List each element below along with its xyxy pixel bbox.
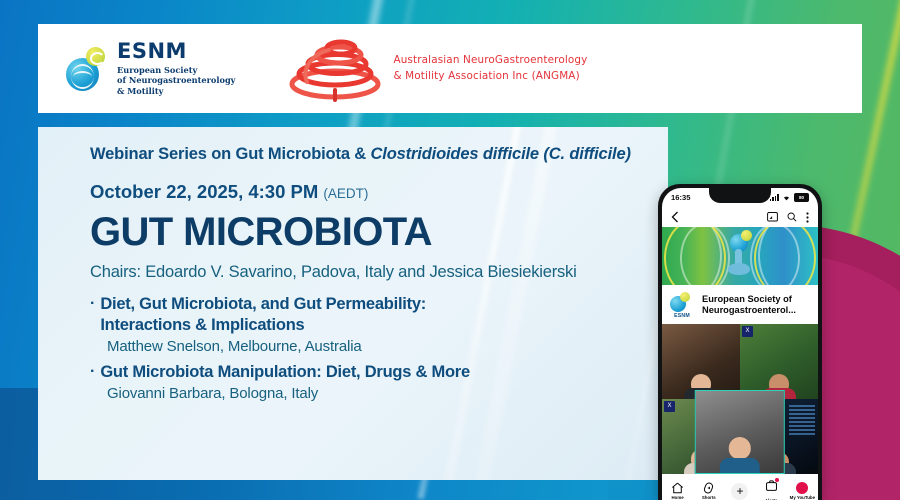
nav-item-home[interactable]: Home — [665, 482, 691, 500]
participant-tile[interactable] — [662, 324, 740, 399]
avatar-label: ESNM — [670, 313, 694, 319]
esnm-fullname: European Society of Neurogastroenterolog… — [117, 65, 235, 97]
video-participant-grid[interactable]: X X — [662, 324, 818, 474]
phone-mockup: 16:35 80 — [658, 184, 822, 500]
event-timezone: (AEDT) — [323, 186, 368, 201]
phone-bottom-nav[interactable]: Home Shorts + — [662, 474, 818, 500]
esnm-logo: ESNM European Society of Neurogastroente… — [64, 41, 235, 97]
angma-name-line1: Australasian NeuroGastroenterology — [393, 53, 587, 68]
content-panel: Webinar Series on Gut Microbiota & Clost… — [38, 127, 668, 480]
channel-header[interactable]: ESNM European Society of Neurogastroente… — [662, 285, 818, 324]
wifi-icon — [782, 194, 791, 201]
esnm-acronym: ESNM — [117, 41, 235, 62]
phone-notch — [709, 188, 771, 203]
page-title: GUT MICROBIOTA — [90, 211, 668, 253]
list-item: · Diet, Gut Microbiota, and Gut Permeabi… — [90, 294, 668, 355]
notification-dot — [775, 478, 779, 482]
talk-title-line1: Gut Microbiota Manipulation: Diet, Drugs… — [100, 363, 470, 381]
nav-label-home: Home — [671, 495, 683, 500]
cast-icon[interactable] — [767, 212, 778, 222]
phone-app-bar — [662, 207, 818, 227]
esnm-logo-text: ESNM European Society of Neurogastroente… — [117, 41, 235, 97]
talk-speaker: Giovanni Barbara, Bologna, Italy — [107, 385, 668, 402]
shorts-icon — [702, 482, 715, 494]
esnm-globe-icon — [64, 46, 108, 92]
angma-name-line2: & Motility Association Inc (ANGMA) — [393, 69, 587, 84]
nav-item-my-youtube[interactable]: My YouTube — [789, 482, 815, 500]
kicker-italic-species: Clostridioides difficile (C. difficile) — [371, 145, 631, 163]
bullet-icon: · — [90, 362, 95, 382]
home-icon — [671, 482, 684, 494]
chairs-line: Chairs: Edoardo V. Savarino, Padova, Ita… — [90, 263, 668, 282]
esnm-fullname-line3: & Motility — [117, 86, 235, 97]
search-icon[interactable] — [787, 212, 797, 222]
participant-tile[interactable]: X — [740, 324, 818, 399]
battery-icon: 80 — [794, 193, 809, 202]
plus-icon[interactable]: + — [731, 483, 748, 500]
channel-name: European Society of Neurogastroenterol..… — [702, 294, 796, 317]
bullet-icon: · — [90, 294, 95, 314]
talk-speaker: Matthew Snelson, Melbourne, Australia — [107, 338, 668, 355]
logo-bar: ESNM European Society of Neurogastroente… — [38, 24, 862, 113]
talk-title: Gut Microbiota Manipulation: Diet, Drugs… — [100, 362, 470, 383]
webinar-series-kicker: Webinar Series on Gut Microbiota & Clost… — [90, 145, 668, 164]
talk-title: Diet, Gut Microbiota, and Gut Permeabili… — [100, 294, 426, 336]
nav-label-my-youtube: My YouTube — [790, 495, 815, 500]
list-item: · Gut Microbiota Manipulation: Diet, Dru… — [90, 362, 668, 402]
nav-label-shorts: Shorts — [702, 495, 716, 500]
angma-logo-text: Australasian NeuroGastroenterology & Mot… — [393, 53, 587, 83]
angma-spiral-icon — [287, 34, 383, 104]
status-time: 16:35 — [671, 193, 690, 202]
angma-logo: Australasian NeuroGastroenterology & Mot… — [287, 34, 587, 104]
esnm-avatar-icon: ESNM — [669, 292, 695, 318]
channel-banner — [662, 227, 818, 285]
phone-screen: 16:35 80 — [662, 188, 818, 500]
esnm-fullname-line2: of Neurogastroenterology — [117, 75, 235, 86]
talk-title-line1: Diet, Gut Microbiota, and Gut Permeabili… — [100, 295, 426, 313]
participant-badge: X — [742, 326, 753, 337]
channel-name-line1: European Society of — [702, 294, 796, 305]
nav-item-shorts[interactable]: Shorts — [696, 482, 722, 500]
poster-canvas: ESNM European Society of Neurogastroente… — [0, 0, 900, 500]
more-vertical-icon[interactable] — [806, 212, 809, 223]
back-chevron-icon[interactable] — [671, 211, 679, 223]
talk-list: · Diet, Gut Microbiota, and Gut Permeabi… — [90, 294, 668, 402]
account-avatar-icon — [796, 482, 808, 494]
event-dateline: October 22, 2025, 4:30 PM (AEDT) — [90, 181, 668, 203]
nav-item-create[interactable]: + — [727, 483, 753, 500]
participant-badge: X — [664, 401, 675, 412]
kicker-prefix: Webinar Series on Gut Microbiota & — [90, 145, 371, 163]
cellular-signal-icon — [770, 194, 779, 201]
talk-title-line2: Interactions & Implications — [100, 316, 304, 334]
channel-name-line2: Neurogastroenterol... — [702, 305, 796, 316]
nav-item-alerts[interactable]: Alerts — [758, 479, 784, 500]
event-date: October 22, 2025, 4:30 PM — [90, 181, 318, 202]
active-speaker-tile[interactable] — [695, 390, 785, 474]
esnm-fullname-line1: European Society — [117, 65, 235, 76]
esnm-banner-logo-icon — [727, 234, 753, 278]
